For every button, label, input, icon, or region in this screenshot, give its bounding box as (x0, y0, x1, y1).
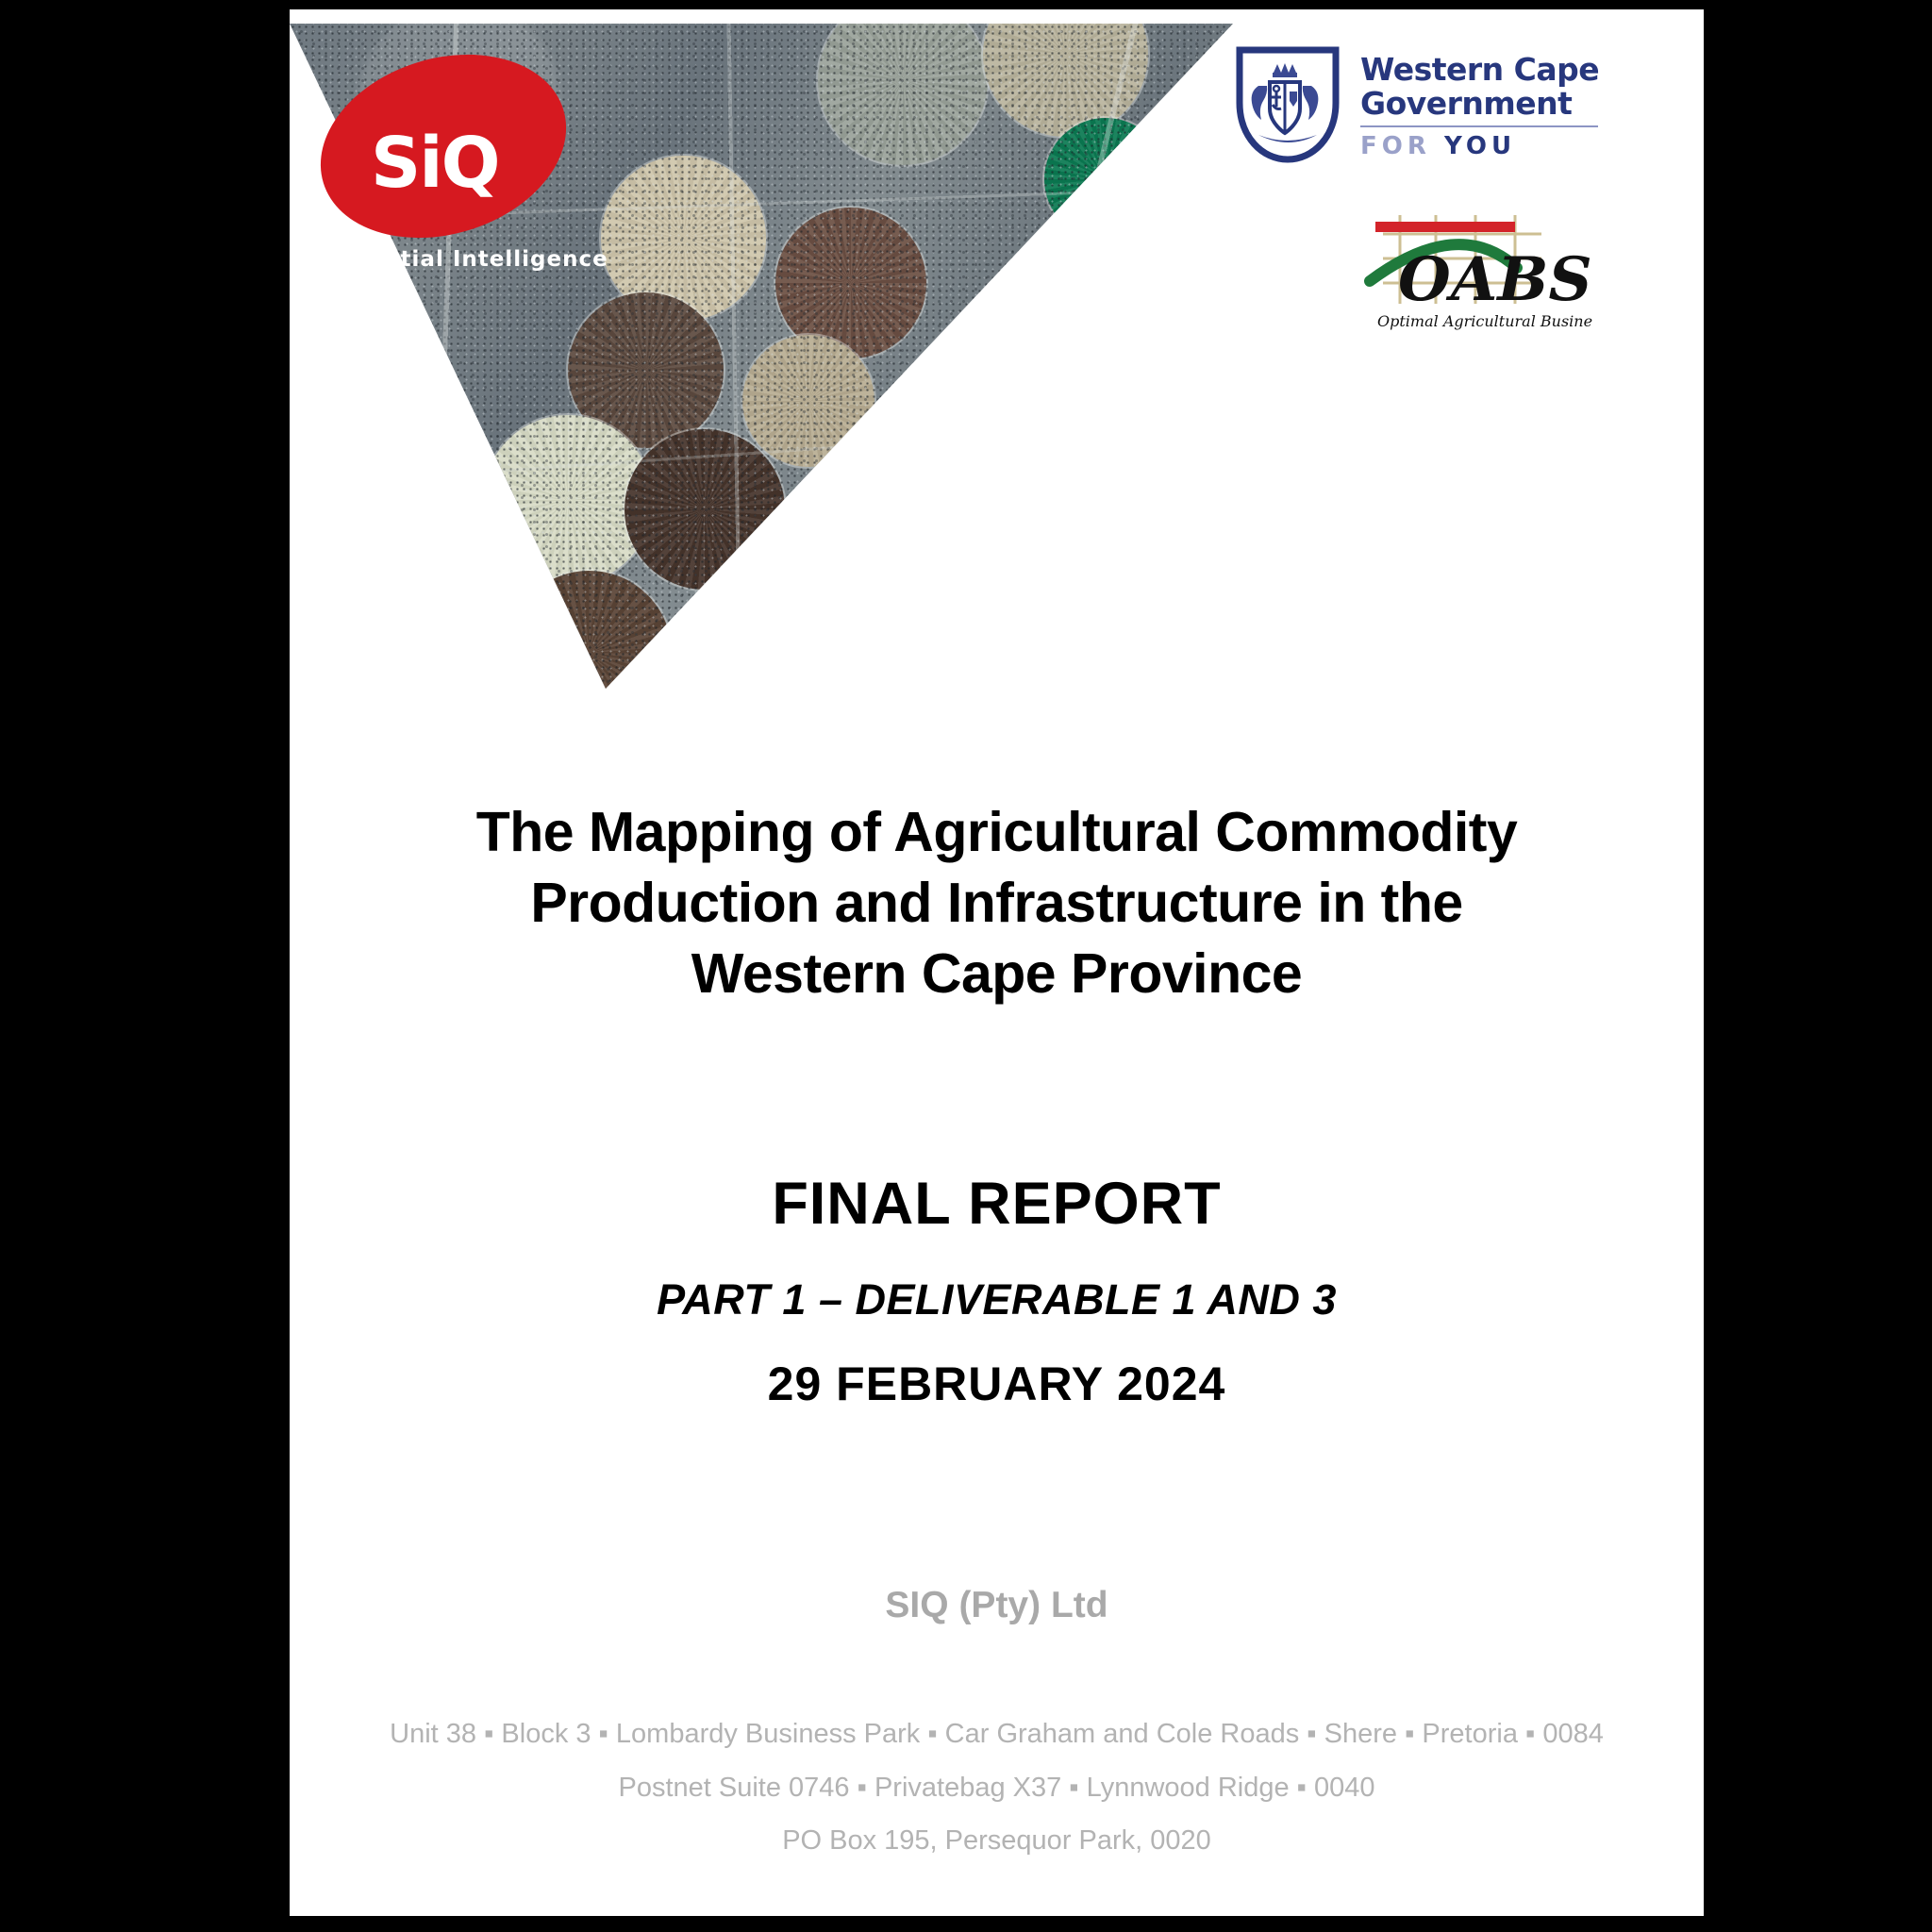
pivot-circle (360, 467, 516, 623)
oabs-logo: OABS Optimal Agricultural Business Syste… (1355, 206, 1592, 349)
siq-logo: SiQ Spatial Intelligence (318, 38, 629, 311)
report-title-line-3: Western Cape Province (327, 939, 1666, 1009)
final-report-heading: FINAL REPORT (327, 1170, 1666, 1238)
wcg-line-1: Western Cape (1360, 53, 1599, 87)
western-cape-government-logo: Western Cape Government FOR YOU (1232, 45, 1614, 168)
address-line-2: Postnet Suite 0746 ▪ Privatebag X37 ▪ Ly… (318, 1761, 1675, 1815)
wcg-line-2: Government (1360, 87, 1599, 121)
report-part-subtitle: PART 1 – DELIVERABLE 1 AND 3 (327, 1275, 1666, 1324)
report-title-line-1: The Mapping of Agricultural Commodity (327, 797, 1666, 868)
address-line-1: Unit 38 ▪ Block 3 ▪ Lombardy Business Pa… (318, 1707, 1675, 1761)
address-line-3: PO Box 195, Persequor Park, 0020 (318, 1814, 1675, 1868)
wcg-for-you-tagline: FOR YOU (1360, 132, 1599, 160)
western-cape-crest-icon (1232, 44, 1343, 170)
company-name: SIQ (Pty) Ltd (327, 1585, 1666, 1626)
report-title-line-2: Production and Infrastructure in the (327, 868, 1666, 939)
wcg-divider (1360, 125, 1598, 127)
wcg-you-word: YOU (1444, 132, 1516, 160)
document-page: SiQ Spatial Intelligence (290, 9, 1704, 1916)
siq-tagline: Spatial Intelligence (352, 247, 608, 272)
address-block: Unit 38 ▪ Block 3 ▪ Lombardy Business Pa… (318, 1707, 1675, 1868)
report-title: The Mapping of Agricultural Commodity Pr… (327, 797, 1666, 1009)
wcg-for-word: FOR (1360, 132, 1431, 160)
page-title: The Mapping of Agricultural Commodity Pr… (327, 797, 1666, 1009)
oabs-acronym-text: OABS (1398, 244, 1592, 315)
siq-wordmark: SiQ (371, 128, 499, 198)
oabs-tagline-text: Optimal Agricultural Business Systems (1377, 312, 1592, 330)
report-date: 29 FEBRUARY 2024 (327, 1357, 1666, 1411)
western-cape-wordmark: Western Cape Government FOR YOU (1360, 53, 1599, 160)
